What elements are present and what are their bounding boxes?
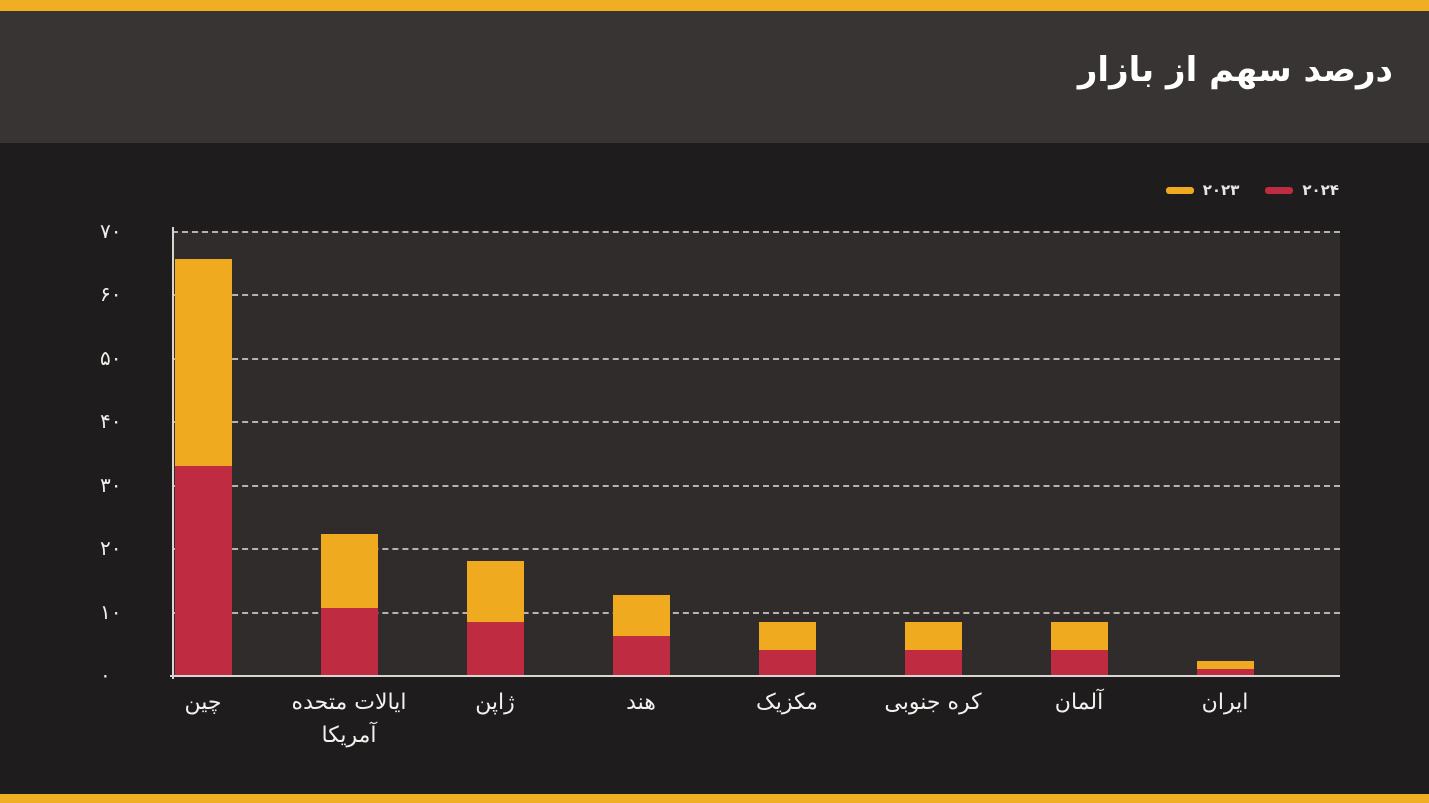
- x-axis-category-label: مکزیک: [722, 686, 852, 719]
- legend-item-2024[interactable]: ۲۰۲۴: [1265, 183, 1339, 198]
- x-axis-category-label: ایران: [1160, 686, 1290, 719]
- bar-segment-2023[interactable]: [321, 534, 378, 608]
- bar-segment-2024[interactable]: [175, 466, 232, 675]
- bar-group[interactable]: [321, 534, 378, 675]
- bar-group[interactable]: [759, 622, 816, 675]
- x-axis-category-label: آلمان: [1014, 686, 1144, 719]
- x-axis-line: [170, 675, 1340, 677]
- bars-layer: [172, 231, 1340, 675]
- x-axis-category-label: ژاپن: [430, 686, 560, 719]
- bar-group[interactable]: [905, 622, 962, 675]
- bar-segment-2023[interactable]: [905, 622, 962, 650]
- bar-segment-2024[interactable]: [905, 650, 962, 675]
- legend-label: ۲۰۲۳: [1203, 183, 1240, 198]
- x-axis-labels: چینایالات متحده آمریکاژاپنهندمکزیککره جن…: [172, 686, 1340, 766]
- header-bar: درصد سهم از بازار: [0, 11, 1429, 143]
- bar-segment-2023[interactable]: [613, 595, 670, 636]
- bar-segment-2024[interactable]: [467, 622, 524, 675]
- chart-plot-area: ۰۱۰۲۰۳۰۴۰۵۰۶۰۷۰: [172, 231, 1340, 675]
- y-axis-tick-label: ۱۰: [100, 600, 160, 624]
- chart-legend: ۲۰۲۴۲۰۲۳: [1166, 183, 1339, 198]
- bar-segment-2024[interactable]: [759, 650, 816, 675]
- legend-label: ۲۰۲۴: [1302, 183, 1339, 198]
- bar-segment-2024[interactable]: [613, 636, 670, 675]
- bar-group[interactable]: [175, 259, 232, 675]
- bar-group[interactable]: [1197, 661, 1254, 675]
- x-axis-category-label: ایالات متحده آمریکا: [284, 686, 414, 752]
- top-accent-band: [0, 0, 1429, 11]
- y-axis-tick-label: ۰: [100, 663, 160, 687]
- y-axis-tick-label: ۶۰: [100, 282, 160, 306]
- bar-segment-2023[interactable]: [175, 259, 232, 466]
- legend-swatch-icon: [1265, 187, 1293, 194]
- bar-group[interactable]: [613, 595, 670, 675]
- bar-segment-2023[interactable]: [1197, 661, 1254, 669]
- bar-segment-2024[interactable]: [1051, 650, 1108, 675]
- bar-segment-2024[interactable]: [1197, 669, 1254, 675]
- y-axis-tick-label: ۷۰: [100, 219, 160, 243]
- x-axis-category-label: کره جنوبی: [868, 686, 998, 719]
- page-title: درصد سهم از بازار: [1078, 49, 1393, 92]
- slide-root: درصد سهم از بازار ۲۰۲۴۲۰۲۳ ۰۱۰۲۰۳۰۴۰۵۰۶۰…: [0, 0, 1429, 803]
- bar-segment-2023[interactable]: [1051, 622, 1108, 650]
- y-axis-tick-label: ۲۰: [100, 536, 160, 560]
- bar-segment-2024[interactable]: [321, 608, 378, 675]
- bar-segment-2023[interactable]: [759, 622, 816, 650]
- bar-segment-2023[interactable]: [467, 561, 524, 622]
- y-axis-tick-label: ۳۰: [100, 473, 160, 497]
- legend-swatch-icon: [1166, 187, 1194, 194]
- bar-group[interactable]: [1051, 622, 1108, 675]
- bar-group[interactable]: [467, 561, 524, 675]
- bottom-accent-band: [0, 794, 1429, 803]
- legend-item-2023[interactable]: ۲۰۲۳: [1166, 183, 1240, 198]
- y-axis-tick-label: ۴۰: [100, 409, 160, 433]
- x-axis-category-label: هند: [576, 686, 706, 719]
- y-axis-tick-label: ۵۰: [100, 346, 160, 370]
- x-axis-category-label: چین: [138, 686, 268, 719]
